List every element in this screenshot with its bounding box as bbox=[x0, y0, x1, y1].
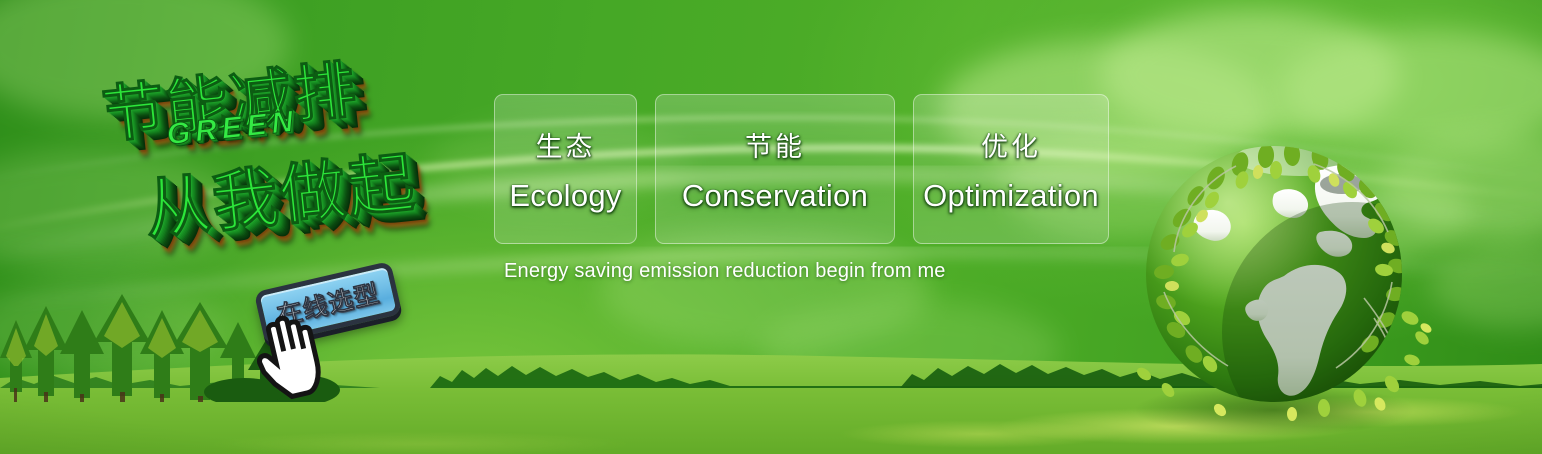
eco-promo-banner: 节能减排 GREEN 从我做起 在线选型 生态 Ecology 节能 Conse… bbox=[0, 0, 1542, 454]
vignette-overlay bbox=[0, 0, 1542, 454]
